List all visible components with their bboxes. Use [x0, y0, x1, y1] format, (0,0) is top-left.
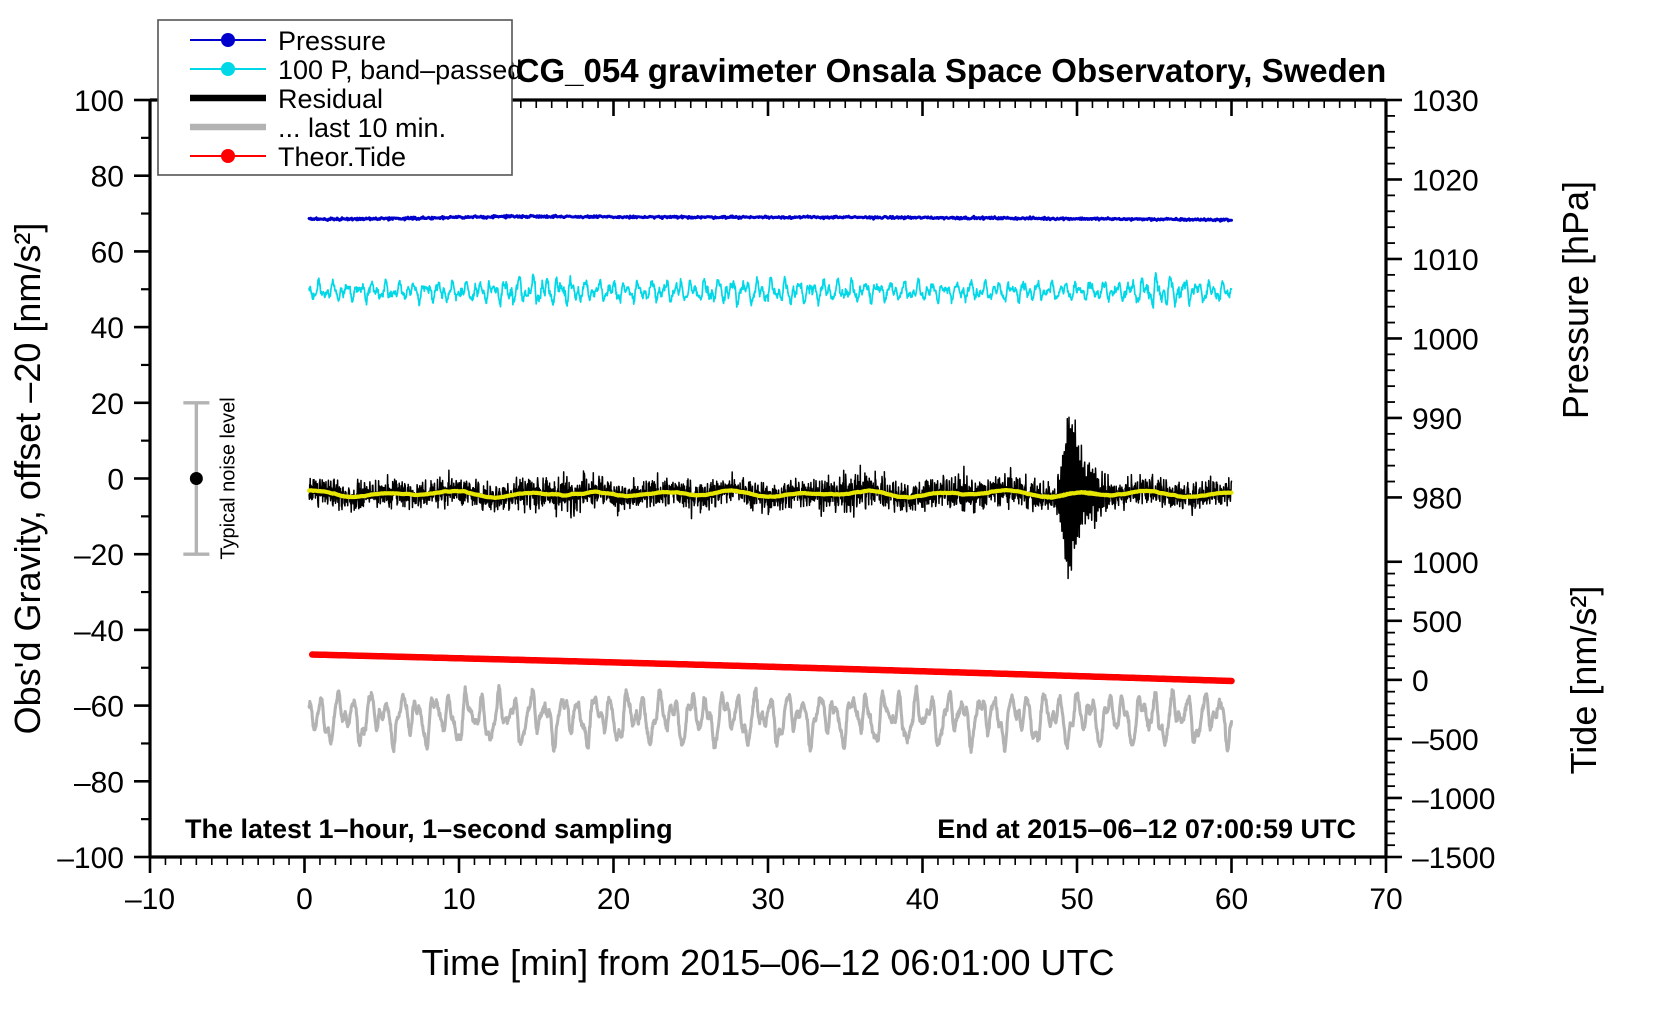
- left-axis-tick-label: 0: [107, 464, 124, 497]
- bottom-axis-tick-label: 70: [1369, 883, 1402, 916]
- right-axis-pressure-tick-label: 990: [1412, 403, 1462, 436]
- noise-level-label: Typical noise level: [217, 397, 239, 559]
- right-axis-tide-tick-label: –500: [1412, 724, 1479, 757]
- legend-swatch-dot: [221, 33, 235, 47]
- right-axis-tide-title: Tide [nm/s²]: [1563, 586, 1604, 775]
- right-axis-pressure-title: Pressure [hPa]: [1555, 181, 1596, 419]
- left-axis-tick-label: –20: [74, 539, 124, 572]
- left-axis-tick-label: 100: [74, 85, 124, 118]
- legend: Pressure100 P, band–passedResidual... la…: [158, 20, 522, 175]
- right-axis-tide-tick-label: 500: [1412, 606, 1462, 639]
- bottom-axis-tick-label: 50: [1060, 883, 1093, 916]
- right-axis-pressure-tick-label: 1030: [1412, 85, 1479, 118]
- left-axis-tick-label: –80: [74, 766, 124, 799]
- left-axis-tick-label: –60: [74, 691, 124, 724]
- legend-swatch-dot: [221, 149, 235, 163]
- legend-item-label: 100 P, band–passed: [278, 55, 522, 85]
- left-axis-tick-label: –40: [74, 615, 124, 648]
- right-axis-pressure-tick-label: 1000: [1412, 323, 1479, 356]
- right-axis-pressure-tick-label: 980: [1412, 482, 1462, 515]
- bottom-axis-tick-label: 40: [906, 883, 939, 916]
- left-axis-tick-label: 80: [91, 161, 124, 194]
- bottom-axis-tick-label: 10: [442, 883, 475, 916]
- right-axis-pressure-tick-label: 1010: [1412, 244, 1479, 277]
- x-axis-title: Time [min] from 2015–06–12 06:01:00 UTC: [421, 942, 1114, 983]
- bottom-axis-tick-label: 60: [1215, 883, 1248, 916]
- chart-root: 100806040200–20–40–60–80–100Obs'd Gravit…: [0, 0, 1660, 1020]
- left-axis-tick-label: 60: [91, 236, 124, 269]
- left-axis-tick-label: 20: [91, 388, 124, 421]
- legend-item-label: Theor.Tide: [278, 142, 406, 172]
- bottom-axis-tick-label: 30: [751, 883, 784, 916]
- legend-item-label: ... last 10 min.: [278, 113, 446, 143]
- left-axis-tick-label: 40: [91, 312, 124, 345]
- legend-item-label: Pressure: [278, 26, 386, 56]
- chart-title: SCG_054 gravimeter Onsala Space Observat…: [494, 52, 1387, 89]
- right-axis-tide-tick-label: 1000: [1412, 547, 1479, 580]
- right-axis-pressure-tick-label: 1020: [1412, 164, 1479, 197]
- bottom-axis-tick-label: 0: [296, 883, 313, 916]
- right-axis-tide-tick-label: –1500: [1412, 842, 1495, 875]
- annotation-bottom-right: End at 2015–06–12 07:00:59 UTC: [937, 814, 1356, 844]
- legend-item-label: Residual: [278, 84, 383, 114]
- gravimeter-chart: 100806040200–20–40–60–80–100Obs'd Gravit…: [0, 0, 1660, 1020]
- annotation-bottom-left: The latest 1–hour, 1–second sampling: [185, 814, 673, 844]
- bottom-axis-tick-label: –10: [125, 883, 175, 916]
- right-axis-tide-tick-label: –1000: [1412, 783, 1495, 816]
- y-axis-title: Obs'd Gravity, offset –20 [nm/s²]: [7, 223, 48, 735]
- left-axis-tick-label: –100: [57, 842, 124, 875]
- bottom-axis-tick-label: 20: [597, 883, 630, 916]
- right-axis-tide-tick-label: 0: [1412, 665, 1429, 698]
- noise-bar-center-dot: [190, 472, 203, 485]
- legend-swatch-dot: [221, 62, 235, 76]
